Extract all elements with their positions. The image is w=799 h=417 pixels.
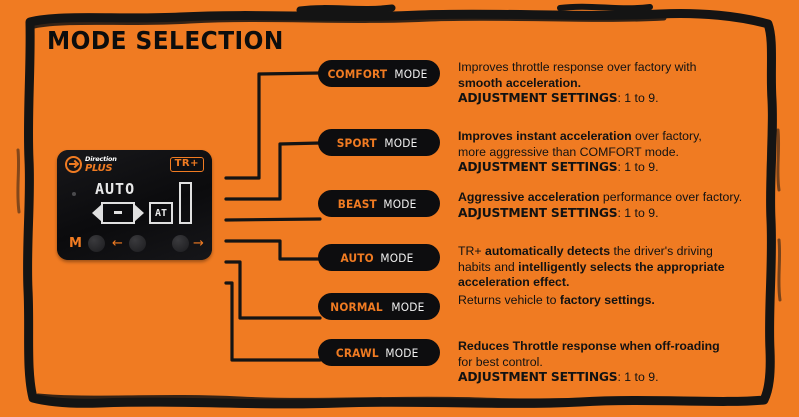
description-text: Returns vehicle to xyxy=(458,293,560,307)
mode-description-comfort: Improves throttle response over factory … xyxy=(458,60,697,107)
description-text: factory settings. xyxy=(560,293,655,307)
description-text: intelligently selects the appropriate xyxy=(518,260,724,274)
brand-logo: Direction PLUS xyxy=(65,156,117,174)
mode-pill-suffix: MODE xyxy=(391,300,424,314)
description-text: habits and xyxy=(458,260,518,274)
description-text: : 1 to 9. xyxy=(617,160,658,174)
description-text: for best control. xyxy=(458,355,543,369)
mode-pill-suffix: MODE xyxy=(381,251,414,265)
page-title: MODE SELECTION xyxy=(47,26,284,55)
throttle-controller-device: Direction PLUS TR+ AUTO AT M ← → xyxy=(57,150,212,260)
description-line: smooth acceleration. xyxy=(458,76,697,92)
description-line: for best control. xyxy=(458,355,720,371)
description-line: acceleration effect. xyxy=(458,275,725,291)
mode-pill-name: BEAST xyxy=(337,197,376,211)
mode-pill-suffix: MODE xyxy=(395,67,428,81)
description-line: habits and intelligently selects the app… xyxy=(458,260,725,276)
mode-description-auto: TR+ automatically detects the driver's d… xyxy=(458,244,725,291)
mode-row-normal: NORMAL MODE Returns vehicle to factory s… xyxy=(318,293,788,320)
mode-pill-name: NORMAL xyxy=(331,300,384,314)
description-text: acceleration effect. xyxy=(458,275,569,289)
arrow-left-icon: ← xyxy=(112,237,123,250)
description-text: the driver's driving xyxy=(610,244,713,258)
screen-mode-label: AUTO xyxy=(95,180,135,198)
mode-pill-name: COMFORT xyxy=(327,67,387,81)
device-button-up[interactable] xyxy=(172,235,189,252)
device-screen: AUTO AT xyxy=(87,180,197,232)
mode-pill-suffix: MODE xyxy=(386,346,419,360)
device-button-row: M ← → xyxy=(67,233,205,253)
mode-pill-normal[interactable]: NORMAL MODE xyxy=(318,293,440,320)
mode-pill-suffix: MODE xyxy=(384,197,417,211)
mode-pill-sport[interactable]: SPORT MODE xyxy=(318,129,440,156)
adjustment-settings-label: ADJUSTMENT SETTINGS xyxy=(458,160,617,174)
mode-row-crawl: CRAWL MODE Reduces Throttle response whe… xyxy=(318,339,788,386)
mode-description-crawl: Reduces Throttle response when off-roadi… xyxy=(458,339,720,386)
level-indicator-icon xyxy=(92,202,144,224)
description-line: Reduces Throttle response when off-roadi… xyxy=(458,339,720,355)
description-text: Aggressive acceleration xyxy=(458,190,600,204)
mode-row-comfort: COMFORT MODE Improves throttle response … xyxy=(318,60,788,107)
description-text: over factory, xyxy=(632,129,702,143)
description-line: ADJUSTMENT SETTINGS: 1 to 9. xyxy=(458,91,697,107)
level-arrow-right-icon xyxy=(134,204,144,222)
mode-list: COMFORT MODE Improves throttle response … xyxy=(318,0,788,417)
description-line: ADJUSTMENT SETTINGS: 1 to 9. xyxy=(458,160,702,176)
device-button-mode[interactable] xyxy=(88,235,105,252)
connector-lines xyxy=(212,60,322,370)
arrow-circle-icon xyxy=(65,156,82,173)
description-line: Improves instant acceleration over facto… xyxy=(458,129,702,145)
description-text: automatically detects xyxy=(485,244,610,258)
description-line: Improves throttle response over factory … xyxy=(458,60,697,76)
description-text: : 1 to 9. xyxy=(617,91,658,105)
description-text: more aggressive than COMFORT mode. xyxy=(458,145,679,159)
mode-pill-name: CRAWL xyxy=(336,346,379,360)
mode-pill-name: AUTO xyxy=(340,251,373,265)
adjustment-settings-label: ADJUSTMENT SETTINGS xyxy=(458,206,617,220)
description-line: more aggressive than COMFORT mode. xyxy=(458,145,702,161)
model-badge: TR+ xyxy=(170,157,204,172)
mode-pill-crawl[interactable]: CRAWL MODE xyxy=(318,339,440,366)
level-value-dash xyxy=(114,211,122,214)
status-led-icon xyxy=(72,192,76,196)
description-text: : 1 to 9. xyxy=(617,370,658,384)
mode-row-sport: SPORT MODE Improves instant acceleration… xyxy=(318,129,788,176)
description-line: Returns vehicle to factory settings. xyxy=(458,293,655,309)
description-text: : 1 to 9. xyxy=(617,206,658,220)
mode-pill-comfort[interactable]: COMFORT MODE xyxy=(318,60,440,87)
mode-button-label: M xyxy=(69,236,82,251)
description-text: Reduces Throttle response when off-roadi… xyxy=(458,339,720,353)
screen-at-label: AT xyxy=(149,202,173,224)
brand-name-top: Direction xyxy=(85,156,117,163)
adjustment-settings-label: ADJUSTMENT SETTINGS xyxy=(458,370,617,384)
arrow-right-icon: → xyxy=(193,237,204,250)
mode-row-auto: AUTO MODE TR+ automatically detects the … xyxy=(318,244,788,291)
description-text: Improves instant acceleration xyxy=(458,129,632,143)
screen-bar-indicator xyxy=(179,182,192,224)
mode-pill-beast[interactable]: BEAST MODE xyxy=(318,190,440,217)
mode-pill-name: SPORT xyxy=(337,136,377,150)
description-line: TR+ automatically detects the driver's d… xyxy=(458,244,725,260)
brand-logo-text: Direction PLUS xyxy=(85,156,117,174)
description-text: smooth acceleration. xyxy=(458,76,581,90)
brand-name-bottom: PLUS xyxy=(85,164,117,174)
description-text: TR+ xyxy=(458,244,485,258)
mode-pill-suffix: MODE xyxy=(384,136,417,150)
description-text: Improves throttle response over factory … xyxy=(458,60,697,74)
mode-description-beast: Aggressive acceleration performance over… xyxy=(458,190,742,221)
device-button-down[interactable] xyxy=(129,235,146,252)
adjustment-settings-label: ADJUSTMENT SETTINGS xyxy=(458,91,617,105)
description-text: performance over factory. xyxy=(600,190,743,204)
description-line: Aggressive acceleration performance over… xyxy=(458,190,742,206)
description-line: ADJUSTMENT SETTINGS: 1 to 9. xyxy=(458,370,720,386)
description-line: ADJUSTMENT SETTINGS: 1 to 9. xyxy=(458,206,742,222)
mode-description-normal: Returns vehicle to factory settings. xyxy=(458,293,655,309)
mode-description-sport: Improves instant acceleration over facto… xyxy=(458,129,702,176)
mode-row-beast: BEAST MODE Aggressive acceleration perfo… xyxy=(318,190,788,221)
mode-selection-poster: MODE SELECTION Direction PLUS TR+ AUTO A… xyxy=(0,0,799,417)
mode-pill-auto[interactable]: AUTO MODE xyxy=(318,244,440,271)
